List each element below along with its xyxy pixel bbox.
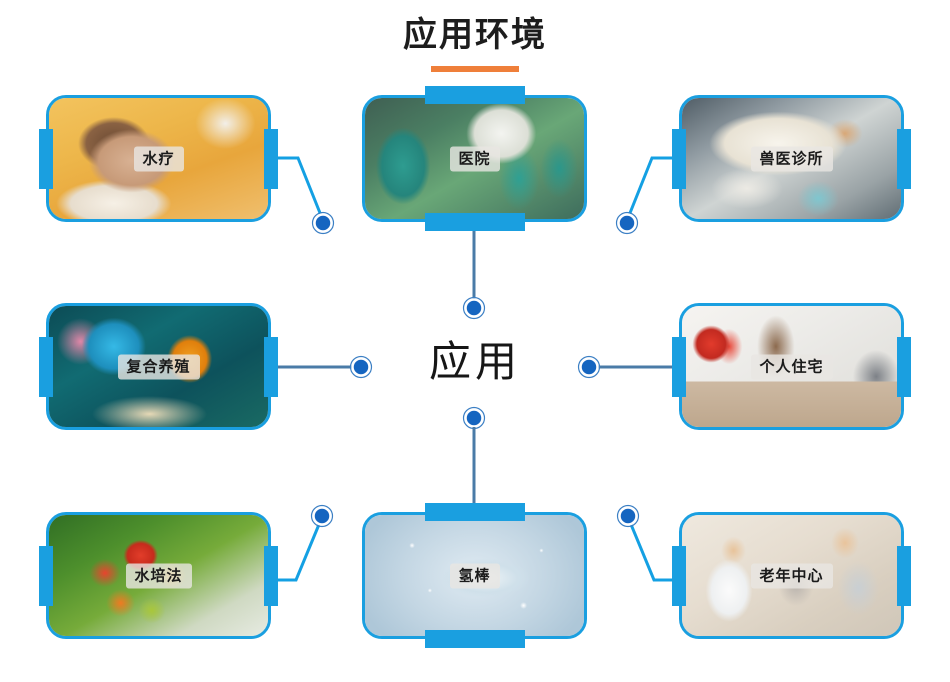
card-senior-center-tab-left: [672, 546, 686, 606]
card-hydrogen-rod-label: 氢棒: [449, 563, 499, 588]
card-residence-tab-left: [672, 337, 686, 397]
card-senior-center[interactable]: 老年中心: [679, 512, 904, 639]
application-environment-diagram: 应用环境 应用: [0, 0, 950, 682]
card-hydrogen-rod-tab-bottom: [425, 630, 525, 648]
card-aquaculture-tab-left: [39, 337, 53, 397]
card-senior-center-label: 老年中心: [750, 563, 832, 588]
node-vet: [619, 215, 636, 232]
card-hydroponics-label: 水培法: [125, 563, 191, 588]
card-hospital-label: 医院: [449, 146, 499, 171]
card-hydrogen-rod[interactable]: 氢棒: [362, 512, 587, 639]
card-spa-tab-right: [264, 129, 278, 189]
card-residence-tab-right: [897, 337, 911, 397]
node-senior: [620, 508, 637, 525]
card-aquaculture[interactable]: 复合养殖: [46, 303, 271, 430]
link-spa-to-hub: [271, 158, 322, 218]
card-veterinary-label: 兽医诊所: [750, 146, 832, 171]
node-hydro: [314, 508, 331, 525]
node-hospital: [466, 300, 483, 317]
card-hydrogen-rod-tab-top: [425, 503, 525, 521]
link-hydro-to-hub: [271, 522, 320, 580]
card-hydroponics-tab-right: [264, 546, 278, 606]
node-spa: [315, 215, 332, 232]
card-hydroponics-tab-left: [39, 546, 53, 606]
card-senior-center-tab-right: [897, 546, 911, 606]
card-hospital-tab-bottom: [425, 213, 525, 231]
card-hospital[interactable]: 医院: [362, 95, 587, 222]
card-hydroponics[interactable]: 水培法: [46, 512, 271, 639]
card-residence[interactable]: 个人住宅: [679, 303, 904, 430]
card-spa[interactable]: 水疗: [46, 95, 271, 222]
card-aquaculture-tab-right: [264, 337, 278, 397]
node-rod: [466, 410, 483, 427]
card-hospital-tab-top: [425, 86, 525, 104]
card-veterinary-tab-right: [897, 129, 911, 189]
card-spa-label: 水疗: [133, 146, 183, 171]
card-aquaculture-label: 复合养殖: [117, 354, 199, 379]
card-spa-tab-left: [39, 129, 53, 189]
card-veterinary-tab-left: [672, 129, 686, 189]
card-residence-label: 个人住宅: [750, 354, 832, 379]
card-veterinary[interactable]: 兽医诊所: [679, 95, 904, 222]
